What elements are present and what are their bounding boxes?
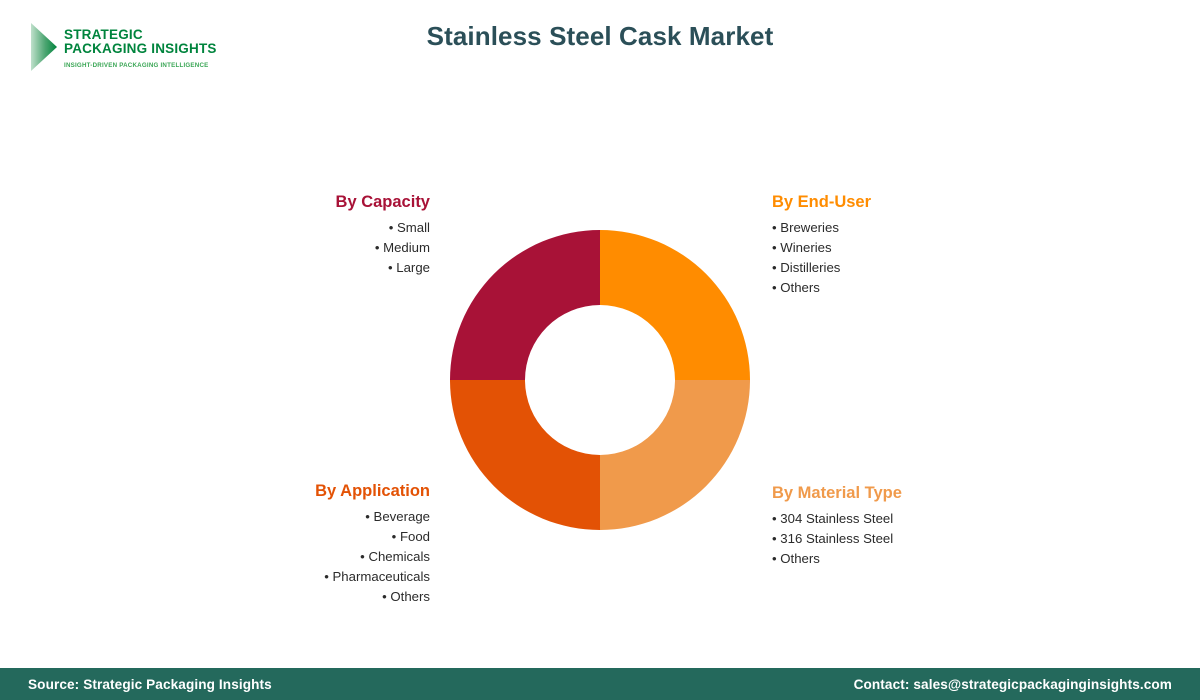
list-item: Beverage <box>180 507 430 527</box>
segment-by-end-user: By End-User BreweriesWineriesDistillerie… <box>772 193 1052 298</box>
donut-slice-application <box>450 380 600 530</box>
segment-title-application: By Application <box>180 482 430 501</box>
list-item: Chemicals <box>180 547 430 567</box>
list-item: Breweries <box>772 218 1052 238</box>
list-item: Others <box>772 278 1052 298</box>
segment-title-end-user: By End-User <box>772 193 1052 212</box>
segment-title-material-type: By Material Type <box>772 484 1072 503</box>
list-item: Medium <box>180 238 430 258</box>
list-item: 316 Stainless Steel <box>772 529 1072 549</box>
list-item: Distilleries <box>772 258 1052 278</box>
logo-tagline: INSIGHT-DRIVEN PACKAGING INTELLIGENCE <box>64 62 217 69</box>
segment-by-application: By Application BeverageFoodChemicalsPhar… <box>180 482 430 607</box>
list-item: Large <box>180 258 430 278</box>
list-item: Small <box>180 218 430 238</box>
donut-chart-svg <box>450 230 750 530</box>
list-item: Others <box>772 549 1072 569</box>
donut-slice-capacity <box>450 230 600 380</box>
list-item: Others <box>180 587 430 607</box>
donut-chart <box>450 230 750 530</box>
footer-contact: Contact: sales@strategicpackaginginsight… <box>854 677 1172 692</box>
infographic-page: STRATEGIC PACKAGING INSIGHTS INSIGHT-DRI… <box>0 0 1200 700</box>
segment-title-capacity: By Capacity <box>180 193 430 212</box>
donut-slice-end-user <box>600 230 750 380</box>
segment-list-application: BeverageFoodChemicalsPharmaceuticalsOthe… <box>180 507 430 607</box>
page-title: Stainless Steel Cask Market <box>0 21 1200 52</box>
footer-bar: Source: Strategic Packaging Insights Con… <box>0 668 1200 700</box>
segment-list-capacity: SmallMediumLarge <box>180 218 430 278</box>
segment-by-capacity: By Capacity SmallMediumLarge <box>180 193 430 278</box>
list-item: Food <box>180 527 430 547</box>
donut-slice-material-type <box>600 380 750 530</box>
segment-list-end-user: BreweriesWineriesDistilleriesOthers <box>772 218 1052 298</box>
segment-list-material-type: 304 Stainless Steel316 Stainless SteelOt… <box>772 509 1072 569</box>
list-item: Pharmaceuticals <box>180 567 430 587</box>
footer-source: Source: Strategic Packaging Insights <box>28 677 272 692</box>
list-item: Wineries <box>772 238 1052 258</box>
list-item: 304 Stainless Steel <box>772 509 1072 529</box>
segment-by-material-type: By Material Type 304 Stainless Steel316 … <box>772 484 1072 569</box>
